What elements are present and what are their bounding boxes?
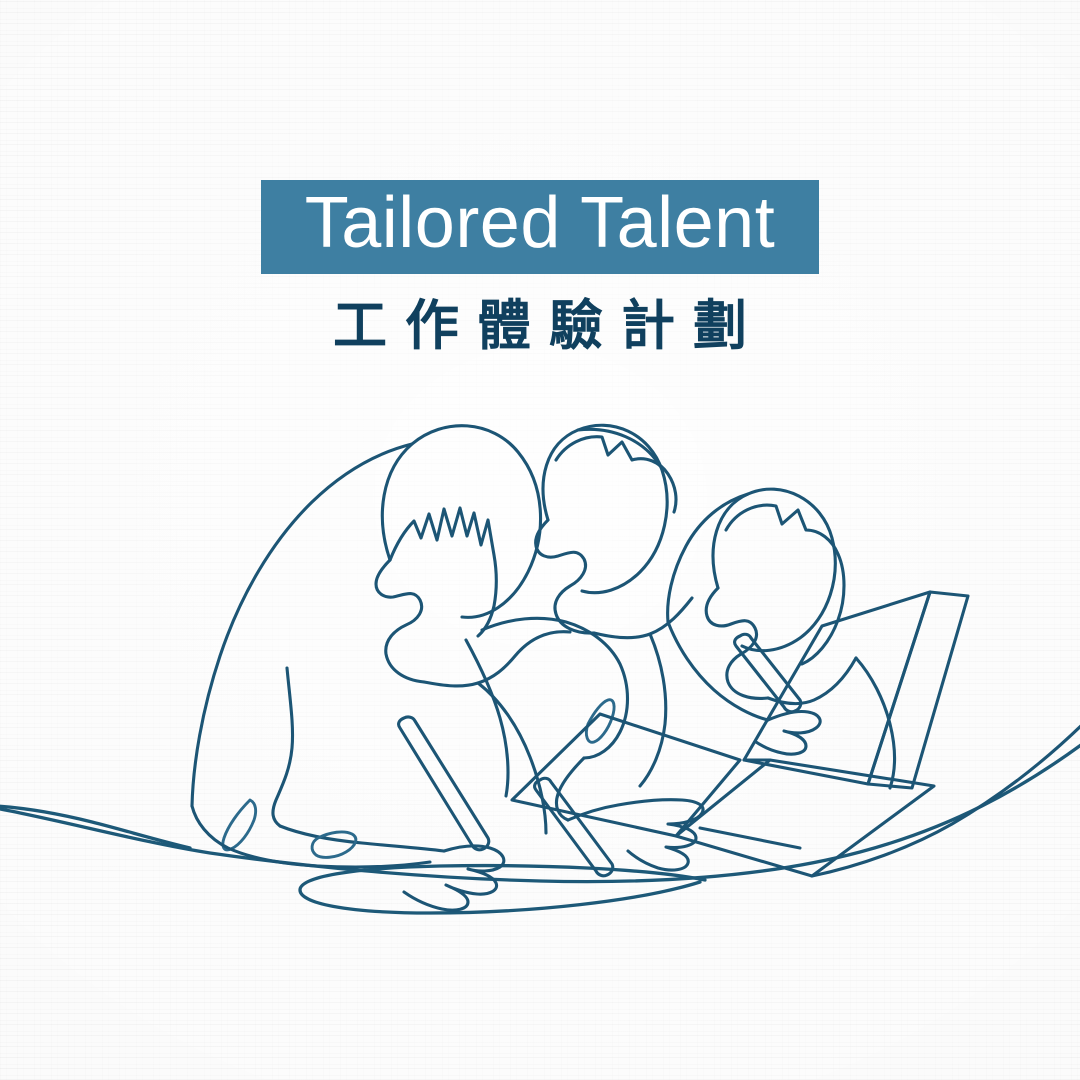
person-right-arm (668, 622, 768, 720)
person-left-sweater-edge (273, 668, 293, 826)
laptop-screen (868, 592, 968, 788)
person-right-head (713, 489, 835, 651)
person-center-small-oval (586, 700, 614, 743)
person-left-sleeve-fold (223, 800, 256, 850)
person-center-hair (556, 437, 676, 512)
person-left-back (192, 444, 412, 806)
person-left-torso (424, 632, 570, 686)
person-left-pencil (399, 717, 489, 850)
person-left-arm-upper (478, 683, 546, 833)
person-center-torso (640, 634, 666, 786)
laptop-base (676, 760, 934, 876)
person-right-hair (726, 505, 844, 664)
person-left-forearm (280, 826, 444, 851)
laptop-trackpad-line (700, 828, 800, 848)
person-right-face-profile (706, 588, 768, 698)
header-block: Tailored Talent 工作體驗計劃 (0, 180, 1080, 355)
poster-canvas: Tailored Talent 工作體驗計劃 (0, 0, 1080, 1080)
person-left-face-profile (376, 560, 424, 682)
person-center-neck-shoulder (594, 598, 692, 638)
table-oval (300, 866, 705, 913)
subtitle-chinese: 工作體驗計劃 (0, 296, 1080, 355)
title-banner: Tailored Talent (261, 180, 819, 274)
person-center-forearm-rest (466, 640, 508, 796)
page-title: Tailored Talent (295, 186, 785, 262)
line-start-left-edge (0, 806, 190, 848)
laptop-screen-inner (744, 592, 930, 784)
person-left-head (382, 426, 540, 618)
person-center-face-profile (536, 520, 594, 633)
line-art-illustration (0, 0, 1080, 1080)
